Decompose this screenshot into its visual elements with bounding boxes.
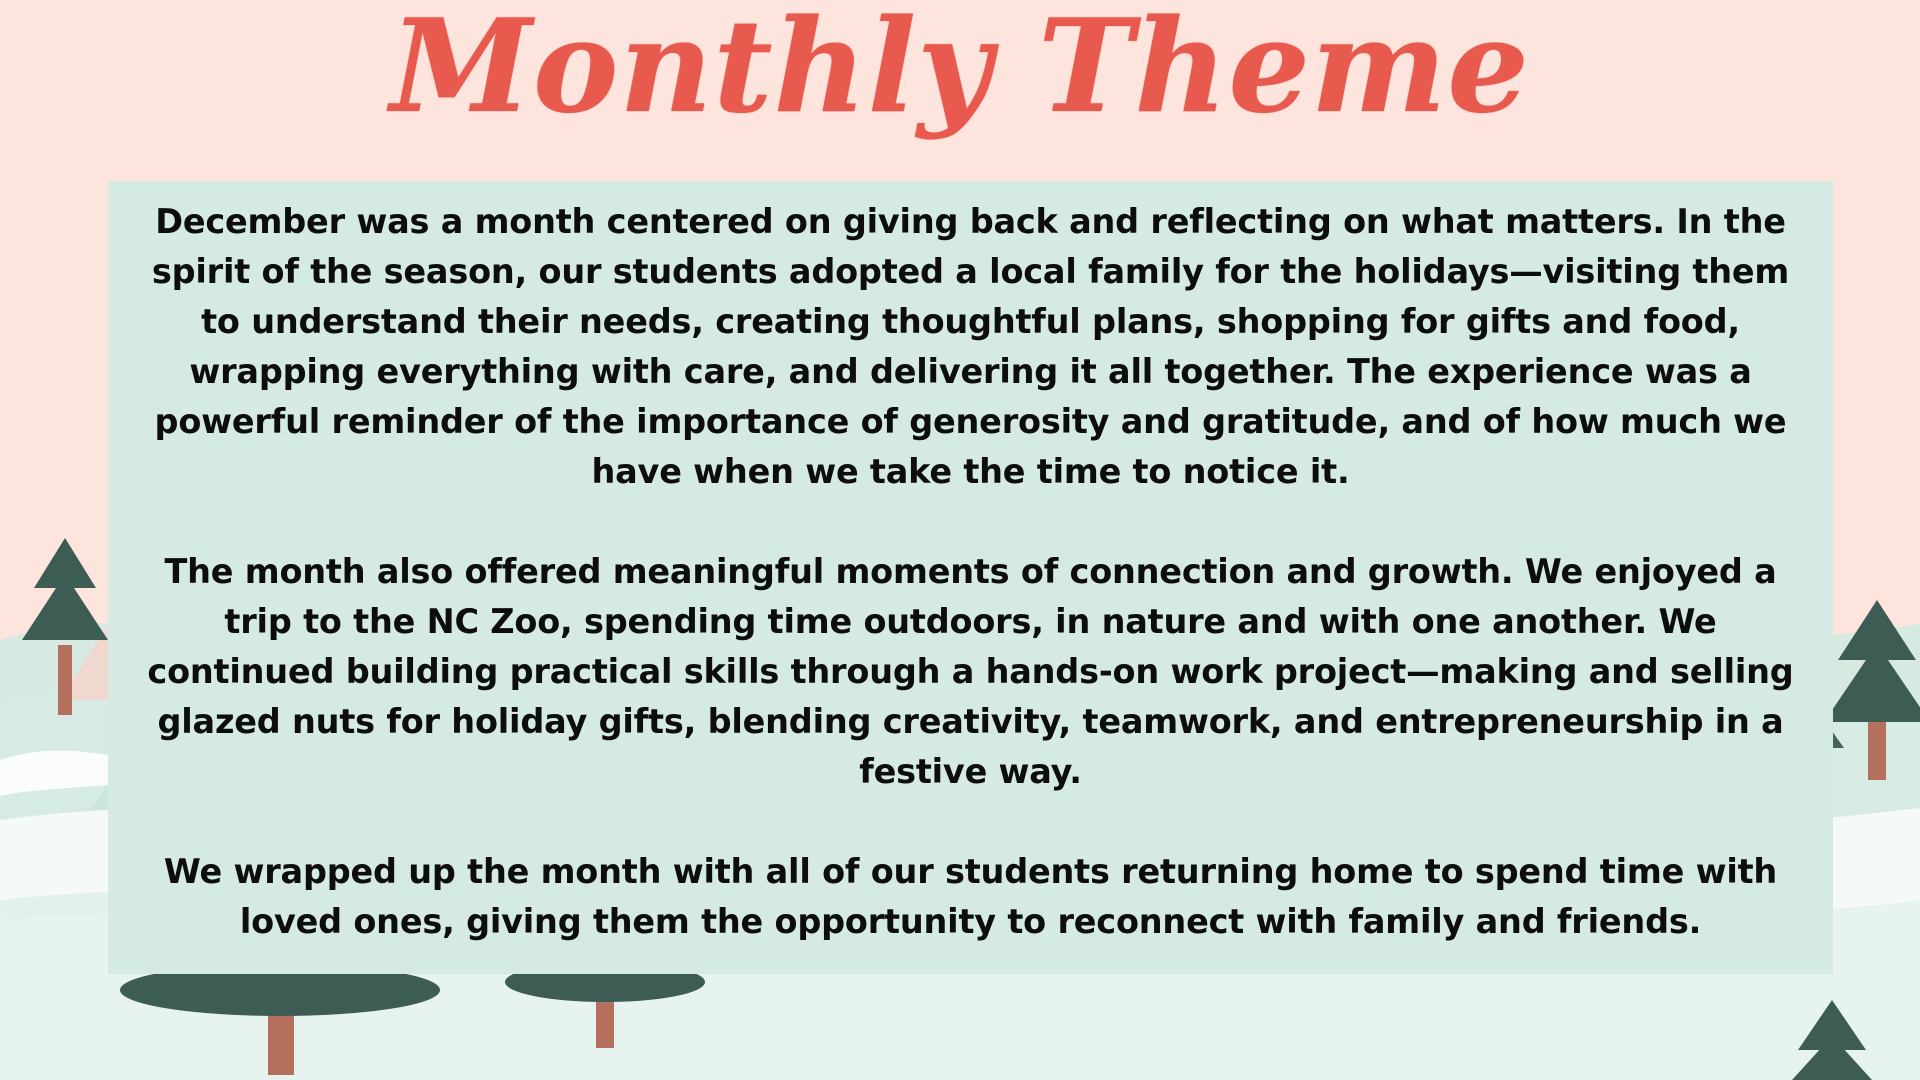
paragraph-1: December was a month centered on giving … [130,197,1811,497]
pine-tree-icon [1792,1000,1872,1080]
slide-canvas: Monthly Theme December was a month cente… [0,0,1920,1080]
body-text-panel: December was a month centered on giving … [108,181,1833,974]
paragraph-2: The month also offered meaningful moment… [130,547,1811,797]
page-title: Monthly Theme [0,0,1920,141]
pine-tree-icon [1824,600,1920,780]
pine-tree-icon [22,538,108,715]
paragraph-3: We wrapped up the month with all of our … [130,847,1811,947]
